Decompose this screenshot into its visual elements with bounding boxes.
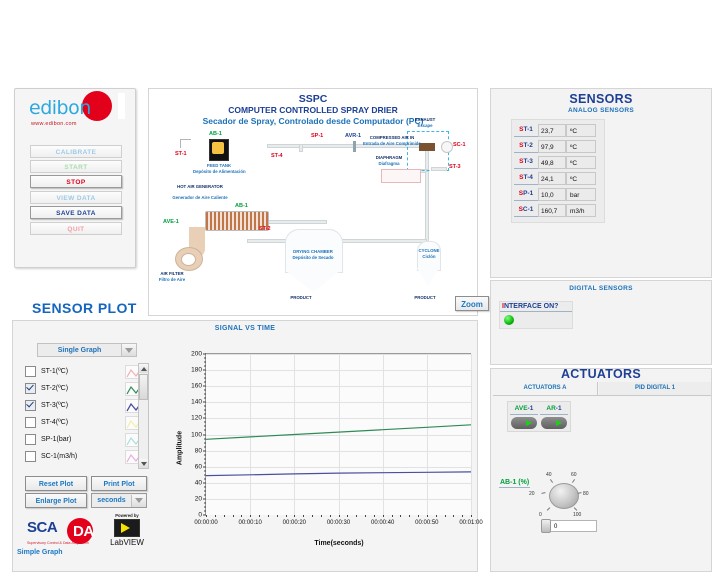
edibon-url: www.edibon.com xyxy=(31,121,77,127)
caption-exhaust: EXHAUST xyxy=(405,117,445,122)
diaphragm-detail xyxy=(381,169,421,183)
time-unit-value: seconds xyxy=(92,497,131,504)
sensor-plot-heading: SENSOR PLOT xyxy=(32,300,137,316)
chart-y-tick: 60 xyxy=(195,463,202,470)
chart-y-tick: 160 xyxy=(191,383,202,390)
chart-x-minor-tickmark xyxy=(268,515,269,517)
caption-cyclone-es: Ciclón xyxy=(414,254,444,259)
caption-drying-chamber-es: Depósito de Secado xyxy=(289,255,337,260)
signal-chart[interactable]: Amplitude Time(seconds) 0204060801001201… xyxy=(161,347,473,549)
knob-label-ab-1: AB-1 (%) xyxy=(499,479,530,488)
chart-y-tick: 100 xyxy=(191,431,202,438)
chart-x-minor-tickmark xyxy=(374,515,375,517)
enlarge-plot-button[interactable]: Enlarge Plot xyxy=(25,493,87,508)
sensor-value-st-3[interactable]: 49,8 xyxy=(538,156,566,169)
sensor-unit-sp-1: bar xyxy=(566,188,596,201)
sensor-label-sc-1: SC-1 xyxy=(514,204,538,217)
sensors-heading: SENSORS xyxy=(491,92,711,106)
sensor-label-st-4: ST-4 xyxy=(514,172,538,185)
knob-tick-40: 40 xyxy=(546,472,552,478)
list-item[interactable]: ST-4(ºC) xyxy=(25,414,147,431)
checkbox-st-2[interactable] xyxy=(25,383,36,394)
chart-y-tick: 0 xyxy=(198,512,202,519)
caption-compressed-air-es: Entrada de Aire Comprimido xyxy=(361,141,423,146)
sensor-unit-st-1: ºC xyxy=(566,124,596,137)
chart-x-minor-tickmark xyxy=(312,515,313,517)
analog-sensors-subheading: ANALOG SENSORS xyxy=(491,107,711,114)
labview-wordmark: LabVIEW xyxy=(103,538,151,547)
sensor-label-st-1: ST-1 xyxy=(514,124,538,137)
cyclone-cone xyxy=(417,268,439,286)
pipe-heater-out xyxy=(267,220,327,224)
knob-tick-60: 60 xyxy=(571,472,577,478)
table-row: SC-1 160,7 m3/h xyxy=(514,203,602,218)
scroll-down-icon[interactable] xyxy=(139,459,148,468)
caption-drying-chamber: DRYING CHAMBER xyxy=(289,249,337,254)
save-data-button[interactable]: SAVE DATA xyxy=(30,206,122,219)
caption-hot-air-es: Generador de Aire Caliente xyxy=(169,195,231,200)
chart-x-minor-tickmark xyxy=(436,515,437,517)
chart-y-tick: 120 xyxy=(191,415,202,422)
chart-x-minor-tickmark xyxy=(233,515,234,517)
caption-hot-air: HOT AIR GENERATOR xyxy=(169,184,231,189)
tag-ab-1-top: AB-1 xyxy=(209,131,222,137)
tag-ab-1-coil: AB-1 xyxy=(235,203,248,209)
knob-tick-80: 80 xyxy=(583,491,589,497)
legend-label-sc-1: SC-1(m3/h) xyxy=(41,453,125,460)
scrollbar-thumb[interactable] xyxy=(139,374,148,400)
knob-mark-0 xyxy=(547,507,551,511)
stop-button[interactable]: STOP xyxy=(30,175,122,188)
caption-feed-tank: FEED TANK xyxy=(193,163,245,168)
ab-1-value[interactable]: 0 xyxy=(551,520,597,532)
chart-x-minor-tickmark xyxy=(356,515,357,517)
chart-x-minor-tickmark xyxy=(330,515,331,517)
chart-y-axis-label: Amplitude xyxy=(177,431,184,465)
table-row: SP-1 10,0 bar xyxy=(514,187,602,202)
chart-x-tick: 00:00:10 xyxy=(238,520,261,526)
chart-x-minor-tickmark xyxy=(383,515,384,517)
chart-x-minor-tickmark xyxy=(321,515,322,517)
scada-wordmark-da: DA xyxy=(73,523,94,540)
chart-series-ST-2(ºC) xyxy=(206,425,471,440)
caption-compressed-air: COMPRESSED AIR IN xyxy=(361,135,423,140)
signal-vs-time-heading: SIGNAL VS TIME xyxy=(13,325,477,332)
view-data-button[interactable]: VIEW DATA xyxy=(30,191,122,204)
pipe-st3-stub xyxy=(431,167,447,171)
quit-button[interactable]: QUIT xyxy=(30,222,122,235)
switch-label-ar-1: AR-1 xyxy=(540,404,568,415)
diagram-title-code: SSPC xyxy=(149,93,477,105)
sensor-label-st-2: ST-2 xyxy=(514,140,538,153)
chart-x-minor-tickmark xyxy=(400,515,401,517)
sensor-value-sc-1[interactable]: 160,7 xyxy=(538,204,566,217)
drying-chamber-cone xyxy=(285,270,341,292)
pipe-exhaust-riser xyxy=(425,171,429,243)
chart-x-minor-tickmark xyxy=(206,515,207,517)
sensor-unit-st-2: ºC xyxy=(566,140,596,153)
knob-tick-100: 100 xyxy=(573,512,581,518)
st-1-probe xyxy=(180,139,191,148)
chart-x-minor-tickmark xyxy=(224,515,225,517)
pipe-feed-drop xyxy=(299,144,303,152)
list-item[interactable]: ST-1(ºC) xyxy=(25,363,147,380)
chart-x-tick: 00:00:00 xyxy=(194,520,217,526)
caption-air-filter-es: Filtro de Aire xyxy=(147,277,197,282)
labview-logo: Powered by LabVIEW xyxy=(103,513,151,547)
actuators-panel: ACTUATORS ACTUATORS A PID DIGITAL 1 AVE-… xyxy=(490,368,712,572)
scada-logo: SCA DA Supervisory Control & Data Acquis… xyxy=(27,519,57,536)
process-diagram: SSPC COMPUTER CONTROLLED SPRAY DRIER Sec… xyxy=(148,88,478,316)
chart-plot-area[interactable]: 02040608010012014016018020000:00:0000:00… xyxy=(205,353,471,515)
chart-y-tick: 140 xyxy=(191,399,202,406)
chart-x-minor-tickmark xyxy=(445,515,446,517)
checkbox-st-4[interactable] xyxy=(25,417,36,428)
chart-x-tick: 00:00:40 xyxy=(371,520,394,526)
scada-wordmark: SCA xyxy=(27,519,57,536)
table-row: ST-1 23,7 ºC xyxy=(514,123,602,138)
chevron-down-icon[interactable] xyxy=(131,495,146,507)
labview-powered-by: Powered by xyxy=(103,513,151,518)
caption-diaphragm: DIAPHRAGM xyxy=(361,155,417,160)
tag-ave-1: AVE-1 xyxy=(163,219,179,225)
chart-x-axis-label: Time(seconds) xyxy=(205,540,473,547)
control-panel: edibon www.edibon.com CALIBRATE START ST… xyxy=(14,88,136,268)
calibrate-button[interactable]: CALIBRATE xyxy=(30,145,122,158)
time-unit-select[interactable]: seconds xyxy=(91,493,147,508)
chart-x-minor-tickmark xyxy=(286,515,287,517)
slider-thumb[interactable] xyxy=(541,519,551,533)
chart-y-tick: 80 xyxy=(195,447,202,454)
chevron-down-icon[interactable] xyxy=(121,344,136,356)
chart-x-tick: 00:00:30 xyxy=(327,520,350,526)
sensor-value-st-2[interactable]: 97,9 xyxy=(538,140,566,153)
chart-x-minor-tickmark xyxy=(409,515,410,517)
chart-x-minor-tickmark xyxy=(365,515,366,517)
legend-label-st-3: ST-3(ºC) xyxy=(41,402,125,409)
checkbox-sp-1[interactable] xyxy=(25,434,36,445)
chart-y-tick: 20 xyxy=(195,495,202,502)
knob-mark-40 xyxy=(550,479,553,483)
caption-cyclone: CYCLONE xyxy=(414,248,444,253)
digital-sensors-subheading: DIGITAL SENSORS xyxy=(491,285,711,292)
series-legend: ST-1(ºC) ST-2(ºC) ST-3(ºC) ST-4(ºC) xyxy=(25,363,147,465)
actuators-heading: ACTUATORS xyxy=(491,367,711,381)
chart-x-minor-tickmark xyxy=(427,515,428,517)
caption-air-filter: AIR FILTER xyxy=(147,271,197,276)
chart-series-ST-3(ºC) xyxy=(206,472,471,476)
chart-x-minor-tickmark xyxy=(347,515,348,517)
switch-toggle-ar-1[interactable] xyxy=(541,417,567,429)
chart-x-minor-tickmark xyxy=(471,515,472,517)
chart-x-minor-tickmark xyxy=(462,515,463,517)
knob-mark-80 xyxy=(577,492,581,494)
list-item[interactable]: SP-1(bar) xyxy=(25,431,147,448)
interface-indicator: INTERFACE ON? xyxy=(499,301,573,329)
tab-divider xyxy=(493,395,711,396)
tag-st-2: ST-2 xyxy=(259,226,271,232)
legend-label-sp-1: SP-1(bar) xyxy=(41,436,125,443)
switch-ave-1[interactable]: AVE-1 xyxy=(510,404,538,429)
knob-mark-20 xyxy=(541,492,545,494)
legend-label-st-4: ST-4(ºC) xyxy=(41,419,125,426)
chart-gridline-v xyxy=(471,354,472,515)
chart-series-layer xyxy=(206,354,471,515)
ab-1-slider[interactable]: 0 xyxy=(541,519,597,533)
tag-st-4: ST-4 xyxy=(271,153,283,159)
switch-ar-1[interactable]: AR-1 xyxy=(540,404,568,429)
chart-x-minor-tickmark xyxy=(259,515,260,517)
list-item[interactable]: ST-2(ºC) xyxy=(25,380,147,397)
print-plot-button[interactable]: Print Plot xyxy=(91,476,147,491)
chart-y-tick: 180 xyxy=(191,367,202,374)
avr-1-valve xyxy=(353,141,356,152)
play-triangle-icon xyxy=(556,420,562,426)
scroll-up-icon[interactable] xyxy=(139,364,148,373)
tab-pid-digital-1[interactable]: PID DIGITAL 1 xyxy=(599,382,711,395)
caption-diaphragm-es: Diafragma xyxy=(361,161,417,166)
knob-mark-60 xyxy=(572,479,575,483)
sensor-value-st-1[interactable]: 23,7 xyxy=(538,124,566,137)
checkbox-st-1[interactable] xyxy=(25,366,36,377)
blower-rotor xyxy=(181,253,196,266)
graph-mode-value: Single Graph xyxy=(38,347,121,354)
interface-led-icon xyxy=(504,315,514,325)
feed-tank-window xyxy=(212,142,224,154)
switch-toggle-ave-1[interactable] xyxy=(511,417,537,429)
tag-sc-1: SC-1 xyxy=(453,142,466,148)
chart-x-minor-tickmark xyxy=(277,515,278,517)
chart-y-tick: 200 xyxy=(191,351,202,358)
edibon-logo: edibon www.edibon.com xyxy=(15,89,137,141)
zoom-button[interactable]: Zoom xyxy=(455,296,489,311)
switch-label-ave-1: AVE-1 xyxy=(510,404,538,415)
chart-x-tick: 00:01:00 xyxy=(459,520,482,526)
chart-y-tick: 40 xyxy=(195,479,202,486)
chart-x-minor-tickmark xyxy=(453,515,454,517)
simple-graph-label: Simple Graph xyxy=(17,549,63,556)
chart-x-minor-tickmark xyxy=(215,515,216,517)
table-row: ST-2 97,9 ºC xyxy=(514,139,602,154)
sensors-panel: SENSORS ANALOG SENSORS ST-1 23,7 ºC ST-2… xyxy=(490,88,712,278)
knob-mark-100 xyxy=(574,507,578,511)
chart-x-minor-tickmark xyxy=(241,515,242,517)
tag-sp-1: SP-1 xyxy=(311,133,323,139)
play-triangle-icon xyxy=(526,420,532,426)
chart-x-minor-tickmark xyxy=(294,515,295,517)
list-item[interactable]: SC-1(m3/h) xyxy=(25,448,147,465)
sc-1-gauge xyxy=(441,141,453,153)
graph-mode-select[interactable]: Single Graph xyxy=(37,343,137,357)
legend-label-st-2: ST-2(ºC) xyxy=(41,385,125,392)
caption-product-right: PRODUCT xyxy=(407,295,443,300)
diagram-title-en: COMPUTER CONTROLLED SPRAY DRIER xyxy=(149,105,477,115)
caption-product-left: PRODUCT xyxy=(283,295,319,300)
sensor-value-sp-1[interactable]: 10,0 xyxy=(538,188,566,201)
chart-x-minor-tickmark xyxy=(339,515,340,517)
legend-label-st-1: ST-1(ºC) xyxy=(41,368,125,375)
actuators-tabbar: ACTUATORS A PID DIGITAL 1 xyxy=(491,382,711,395)
list-item[interactable]: ST-3(ºC) xyxy=(25,397,147,414)
sensor-label-st-3: ST-3 xyxy=(514,156,538,169)
ab-1-knob[interactable] xyxy=(549,483,579,509)
analog-sensor-table: ST-1 23,7 ºC ST-2 97,9 ºC ST-3 49,8 ºC S… xyxy=(511,119,605,223)
sensor-unit-st-4: ºC xyxy=(566,172,596,185)
chart-x-minor-tickmark xyxy=(250,515,251,517)
reset-plot-button[interactable]: Reset Plot xyxy=(25,476,87,491)
checkbox-sc-1[interactable] xyxy=(25,451,36,462)
chart-x-minor-tickmark xyxy=(392,515,393,517)
start-button[interactable]: START xyxy=(30,160,122,173)
edibon-wordmark: edibon xyxy=(29,97,91,119)
chart-x-minor-tickmark xyxy=(303,515,304,517)
table-row: ST-4 24,1 ºC xyxy=(514,171,602,186)
tag-st-3: ST-3 xyxy=(449,164,461,170)
edibon-logo-bar xyxy=(118,93,125,119)
knob-tick-0: 0 xyxy=(539,512,542,518)
interface-label: INTERFACE ON? xyxy=(500,302,572,312)
chart-x-tick: 00:00:50 xyxy=(415,520,438,526)
sensor-value-st-4[interactable]: 24,1 xyxy=(538,172,566,185)
caption-feed-tank-es: Depósito de Alimentación xyxy=(193,169,245,174)
chart-x-tick: 00:00:20 xyxy=(283,520,306,526)
sensor-plot-panel: SIGNAL VS TIME Single Graph ST-1(ºC) ST-… xyxy=(12,320,478,572)
tag-st-1: ST-1 xyxy=(175,151,187,157)
tag-avr-1: AVR-1 xyxy=(345,133,361,139)
sensor-unit-st-3: ºC xyxy=(566,156,596,169)
actuator-switch-group: AVE-1 AR-1 xyxy=(507,401,571,432)
caption-exhaust-es: Escape xyxy=(405,123,445,128)
tab-actuators-a[interactable]: ACTUATORS A xyxy=(493,382,598,395)
checkbox-st-3[interactable] xyxy=(25,400,36,411)
sensor-unit-sc-1: m3/h xyxy=(566,204,596,217)
digital-sensors-panel: DIGITAL SENSORS INTERFACE ON? xyxy=(490,280,712,365)
chart-x-minor-tickmark xyxy=(418,515,419,517)
labview-icon xyxy=(114,519,140,537)
legend-scrollbar[interactable] xyxy=(138,363,149,469)
sensor-label-sp-1: SP-1 xyxy=(514,188,538,201)
knob-tick-20: 20 xyxy=(529,491,535,497)
table-row: ST-3 49,8 ºC xyxy=(514,155,602,170)
